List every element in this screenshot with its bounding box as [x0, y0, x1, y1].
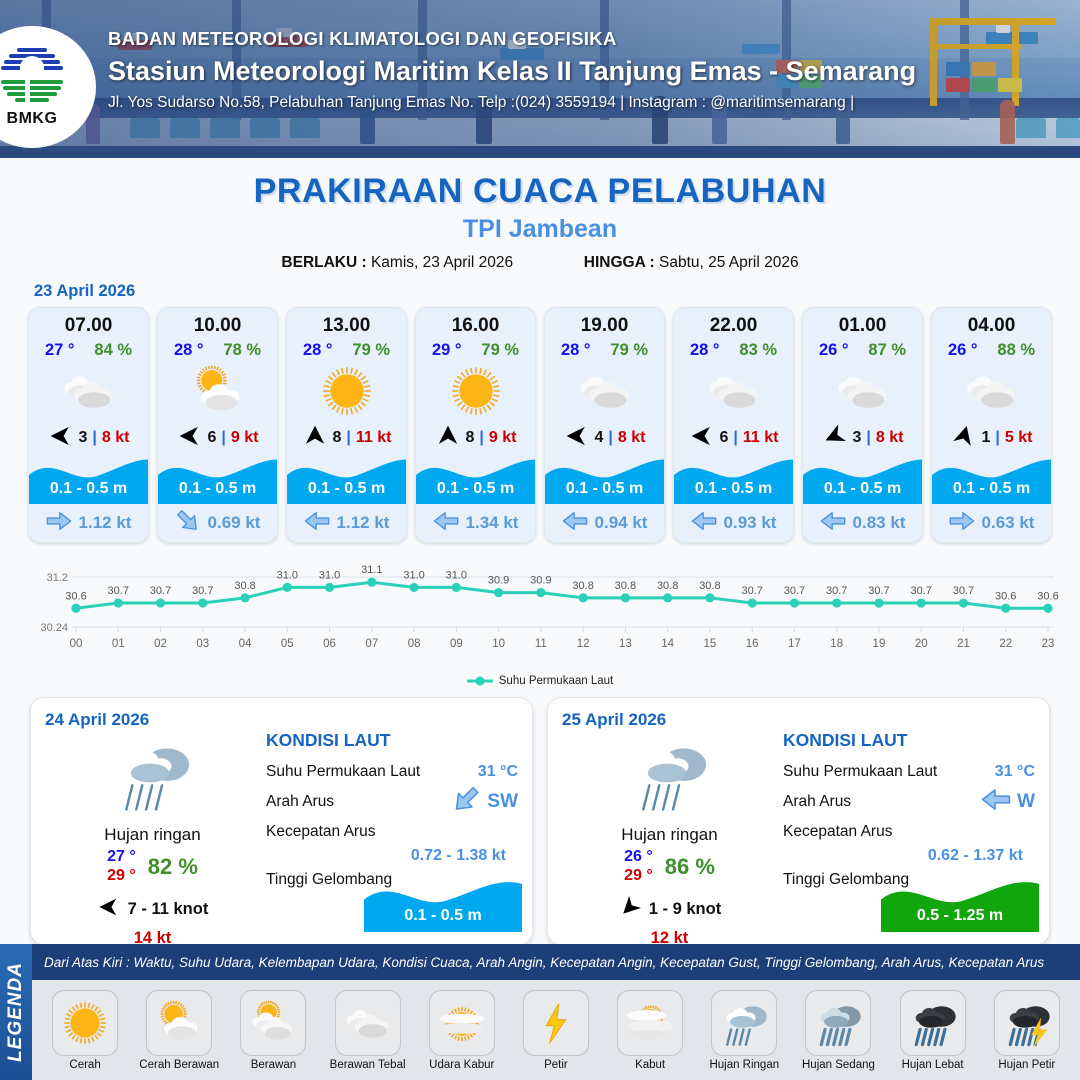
current-direction-arrow-icon [46, 511, 72, 536]
svg-text:30.7: 30.7 [741, 585, 762, 597]
sst-value: 31 °C [478, 763, 518, 781]
legend-item-label: Hujan Petir [983, 1059, 1071, 1071]
svg-text:20: 20 [915, 638, 928, 650]
hourly-wind-speed: 1 [982, 429, 991, 447]
sst-label: Suhu Permukaan Laut [266, 763, 420, 781]
sst-chart-legend: Suhu Permukaan Laut [0, 675, 1080, 687]
svg-text:31.1: 31.1 [361, 564, 382, 576]
daily-forecast-card: 24 April 2026 Hujan ringan 27 ° 29 ° 82 … [30, 697, 533, 945]
svg-text:30.6: 30.6 [1037, 590, 1058, 602]
hourly-wave-height: 0.1 - 0.5 m [416, 480, 535, 498]
hourly-temperature: 26 ° [948, 341, 978, 360]
valid-from-label: BERLAKU : [281, 254, 366, 271]
wind-direction-arrow-icon [302, 423, 328, 454]
svg-text:06: 06 [323, 638, 336, 650]
hourly-humidity: 83 % [739, 341, 777, 360]
svg-text:22: 22 [999, 638, 1012, 650]
legend-item: Berawan Tebal [324, 990, 412, 1071]
svg-text:31.0: 31.0 [277, 569, 298, 581]
svg-text:02: 02 [154, 638, 167, 650]
legend-item: Cerah Berawan [135, 990, 223, 1071]
cloudy-icon [545, 360, 664, 422]
svg-text:14: 14 [661, 638, 674, 650]
sunny-icon [287, 360, 406, 422]
daily-date: 24 April 2026 [45, 710, 518, 730]
hourly-current-speed: 0.94 kt [595, 513, 648, 533]
hourly-humidity: 88 % [997, 341, 1035, 360]
hourly-time: 19.00 [545, 308, 664, 337]
legend-item-label: Kabut [606, 1059, 694, 1071]
separator: | [608, 429, 612, 447]
hourly-wave-height: 0.1 - 0.5 m [674, 480, 793, 498]
light-rain-icon [711, 990, 777, 1056]
haze-icon [429, 990, 495, 1056]
svg-text:30.7: 30.7 [868, 585, 889, 597]
station-contact: Jl. Yos Sudarso No.58, Pelabuhan Tanjung… [108, 94, 916, 112]
hourly-gust: 8 kt [102, 429, 130, 447]
svg-text:30.8: 30.8 [234, 580, 255, 592]
svg-text:30.7: 30.7 [192, 585, 213, 597]
thunderstorm-icon [994, 990, 1060, 1056]
forecast-day-date: 23 April 2026 [34, 282, 1080, 301]
current-speed-label: Kecepatan Arus [783, 823, 892, 841]
hourly-gust: 11 kt [356, 429, 392, 447]
hourly-wave-height: 0.1 - 0.5 m [545, 480, 664, 498]
hourly-wave-height: 0.1 - 0.5 m [158, 480, 277, 498]
hourly-temperature: 28 ° [690, 341, 720, 360]
hourly-time: 04.00 [932, 308, 1051, 337]
wind-direction-arrow-icon [177, 423, 203, 454]
page-subtitle: TPI Jambean [0, 215, 1080, 244]
svg-text:31.2: 31.2 [47, 572, 68, 584]
svg-text:04: 04 [239, 638, 252, 650]
svg-text:30.6: 30.6 [65, 590, 86, 602]
hourly-current-speed: 0.83 kt [853, 513, 906, 533]
cloudy-icon [674, 360, 793, 422]
hourly-card: 22.00 28 ° 83 % 6 | 11 kt 0.1 - 0.5 m 0.… [673, 307, 794, 543]
valid-from-value: Kamis, 23 April 2026 [371, 254, 513, 271]
svg-text:30.7: 30.7 [826, 585, 847, 597]
svg-text:12: 12 [577, 638, 590, 650]
daily-date: 25 April 2026 [562, 710, 1035, 730]
current-direction-arrow-icon [949, 511, 975, 536]
lightning-icon [523, 990, 589, 1056]
legend-side-title-text: LEGENDA [5, 962, 27, 1062]
chart-legend-marker [467, 676, 493, 686]
svg-text:30.8: 30.8 [699, 580, 720, 592]
legend-item-label: Udara Kabur [418, 1059, 506, 1071]
svg-text:19: 19 [873, 638, 886, 650]
hourly-current-speed: 1.12 kt [337, 513, 390, 533]
svg-text:18: 18 [830, 638, 843, 650]
legend-item-label: Berawan [229, 1059, 317, 1071]
svg-text:21: 21 [957, 638, 970, 650]
hourly-time: 07.00 [29, 308, 148, 337]
current-speed-value: 0.72 - 1.38 kt [266, 847, 518, 865]
current-direction-label: Arah Arus [783, 793, 851, 811]
station-name: Stasiun Meteorologi Maritim Kelas II Tan… [108, 56, 916, 87]
hourly-humidity: 79 % [352, 341, 390, 360]
hourly-humidity: 78 % [223, 341, 261, 360]
wind-direction-arrow-icon [435, 423, 461, 454]
hourly-gust: 9 kt [489, 429, 517, 447]
separator: | [346, 429, 350, 447]
svg-text:30.9: 30.9 [530, 575, 551, 587]
current-direction-arrow-icon [175, 511, 201, 536]
legend-note-bar: Dari Atas Kiri : Waktu, Suhu Udara, Kele… [32, 944, 1080, 980]
hourly-time: 13.00 [287, 308, 406, 337]
daily-wave-height: 0.1 - 0.5 m [364, 907, 522, 925]
hourly-humidity: 87 % [868, 341, 906, 360]
wind-direction-arrow-icon [689, 423, 715, 454]
partly-sunny-icon [158, 360, 277, 422]
daily-condition: Hujan ringan [572, 825, 767, 845]
hourly-wind-speed: 3 [853, 429, 862, 447]
bmkg-logo-mark [1, 46, 63, 108]
legend-item: Kabut [606, 990, 694, 1071]
cloudy-icon [29, 360, 148, 422]
moderate-rain-icon [805, 990, 871, 1056]
svg-text:23: 23 [1042, 638, 1055, 650]
hourly-humidity: 79 % [610, 341, 648, 360]
sst-chart-svg: 31.230.2430.60030.70130.70230.70330.8043… [18, 555, 1062, 673]
light-rain-icon [572, 732, 767, 823]
wind-direction-arrow-icon [822, 423, 848, 454]
daily-temp-max: 29 ° [624, 867, 653, 886]
hourly-wave-height: 0.1 - 0.5 m [932, 480, 1051, 498]
agency-name: BADAN METEOROLOGI KLIMATOLOGI DAN GEOFIS… [108, 28, 916, 50]
separator: | [866, 429, 870, 447]
hourly-wave: 0.1 - 0.5 m [674, 454, 793, 504]
sst-value: 31 °C [995, 763, 1035, 781]
page-header: BMKG BADAN METEOROLOGI KLIMATOLOGI DAN G… [0, 0, 1080, 158]
hourly-wave: 0.1 - 0.5 m [158, 454, 277, 504]
light-rain-icon [55, 732, 250, 823]
hourly-humidity: 79 % [481, 341, 519, 360]
hourly-gust: 11 kt [743, 429, 779, 447]
daily-wind-range: 1 - 9 knot [649, 900, 721, 919]
daily-humidity: 86 % [665, 854, 715, 880]
mostly-cloudy-icon [240, 990, 306, 1056]
svg-text:30.7: 30.7 [784, 585, 805, 597]
separator: | [221, 429, 225, 447]
valid-until-value: Sabtu, 25 April 2026 [659, 254, 799, 271]
daily-forecast-card: 25 April 2026 Hujan ringan 26 ° 29 ° 86 … [547, 697, 1050, 945]
current-direction-value: SW [487, 791, 518, 813]
svg-text:31.0: 31.0 [446, 569, 467, 581]
svg-text:30.8: 30.8 [615, 580, 636, 592]
current-direction-value: W [1017, 791, 1035, 813]
svg-text:13: 13 [619, 638, 632, 650]
daily-temp-min: 26 ° [624, 848, 653, 867]
hourly-time: 22.00 [674, 308, 793, 337]
svg-text:30.8: 30.8 [657, 580, 678, 592]
daily-temp-min: 27 ° [107, 848, 136, 867]
legend-item-label: Hujan Ringan [700, 1059, 788, 1071]
validity-line: BERLAKU : Kamis, 23 April 2026 HINGGA : … [0, 254, 1080, 272]
current-speed-value: 0.62 - 1.37 kt [783, 847, 1035, 865]
hourly-temperature: 29 ° [432, 341, 462, 360]
hourly-time: 16.00 [416, 308, 535, 337]
title-section: PRAKIRAAN CUACA PELABUHAN TPI Jambean BE… [0, 158, 1080, 272]
bmkg-logo-text: BMKG [7, 110, 58, 128]
daily-humidity: 82 % [148, 854, 198, 880]
current-direction-arrow-icon [820, 511, 846, 536]
svg-text:31.0: 31.0 [403, 569, 424, 581]
svg-text:11: 11 [535, 638, 547, 650]
hourly-current-speed: 0.63 kt [982, 513, 1035, 533]
wind-direction-arrow-icon [564, 423, 590, 454]
hourly-forecast-row: 07.00 27 ° 84 % 3 | 8 kt 0.1 - 0.5 m 1.1… [0, 301, 1080, 543]
legend-items: Cerah Cerah Berawan Berawan Berawan Teba… [32, 980, 1080, 1080]
hourly-current-speed: 1.34 kt [466, 513, 519, 533]
hourly-gust: 9 kt [231, 429, 259, 447]
hourly-humidity: 84 % [94, 341, 132, 360]
hourly-temperature: 27 ° [45, 341, 75, 360]
svg-text:05: 05 [281, 638, 294, 650]
hourly-card: 10.00 28 ° 78 % 6 | 9 kt 0.1 - 0.5 m 0.6… [157, 307, 278, 543]
hourly-gust: 8 kt [876, 429, 904, 447]
separator: | [995, 429, 999, 447]
hourly-gust: 5 kt [1005, 429, 1033, 447]
svg-text:30.9: 30.9 [488, 575, 509, 587]
chart-legend-label: Suhu Permukaan Laut [499, 675, 613, 687]
svg-text:15: 15 [704, 638, 717, 650]
daily-forecast-row: 24 April 2026 Hujan ringan 27 ° 29 ° 82 … [0, 687, 1080, 945]
svg-text:08: 08 [408, 638, 421, 650]
hourly-wind-speed: 8 [333, 429, 342, 447]
legend-item: Cerah [41, 990, 129, 1071]
legend-item-label: Hujan Lebat [889, 1059, 977, 1071]
svg-text:00: 00 [70, 638, 83, 650]
current-direction-arrow-icon [304, 511, 330, 536]
legend-item: Berawan [229, 990, 317, 1071]
legend-item: Hujan Petir [983, 990, 1071, 1071]
sunny-icon [52, 990, 118, 1056]
hourly-wave: 0.1 - 0.5 m [545, 454, 664, 504]
svg-text:16: 16 [746, 638, 759, 650]
hourly-card: 04.00 26 ° 88 % 1 | 5 kt 0.1 - 0.5 m 0.6… [931, 307, 1052, 543]
hourly-current-speed: 0.69 kt [208, 513, 261, 533]
svg-text:30.7: 30.7 [108, 585, 129, 597]
wind-direction-arrow-icon [97, 895, 121, 924]
svg-text:30.7: 30.7 [150, 585, 171, 597]
hourly-wind-speed: 8 [466, 429, 475, 447]
page-title: PRAKIRAAN CUACA PELABUHAN [0, 172, 1080, 211]
hourly-card: 13.00 28 ° 79 % 8 | 11 kt 0.1 - 0.5 m 1.… [286, 307, 407, 543]
legend-item: Petir [512, 990, 600, 1071]
hourly-wave: 0.1 - 0.5 m [932, 454, 1051, 504]
daily-wind-range: 7 - 11 knot [128, 900, 209, 919]
hourly-current-speed: 1.12 kt [79, 513, 132, 533]
sea-conditions-title: KONDISI LAUT [266, 730, 518, 751]
hourly-time: 10.00 [158, 308, 277, 337]
wind-direction-arrow-icon [48, 423, 74, 454]
hourly-current-speed: 0.93 kt [724, 513, 777, 533]
sst-chart: 31.230.2430.60030.70130.70230.70330.8043… [18, 555, 1062, 673]
legend-item-label: Hujan Sedang [794, 1059, 882, 1071]
svg-text:01: 01 [112, 638, 125, 650]
sunny-icon [416, 360, 535, 422]
wind-direction-arrow-icon [618, 895, 642, 924]
legend-item-label: Cerah [41, 1059, 129, 1071]
legend-note: Dari Atas Kiri : Waktu, Suhu Udara, Kele… [44, 955, 1044, 970]
hourly-card: 16.00 29 ° 79 % 8 | 9 kt 0.1 - 0.5 m 1.3… [415, 307, 536, 543]
svg-text:07: 07 [365, 638, 378, 650]
legend-item: Udara Kabur [418, 990, 506, 1071]
hourly-wave: 0.1 - 0.5 m [287, 454, 406, 504]
svg-text:30.6: 30.6 [995, 590, 1016, 602]
svg-text:30.24: 30.24 [40, 622, 68, 634]
svg-text:31.0: 31.0 [319, 569, 340, 581]
svg-text:10: 10 [492, 638, 505, 650]
hourly-card: 07.00 27 ° 84 % 3 | 8 kt 0.1 - 0.5 m 1.1… [28, 307, 149, 543]
hourly-time: 01.00 [803, 308, 922, 337]
partly-sunny-icon [146, 990, 212, 1056]
valid-until-label: HINGGA : [584, 254, 655, 271]
separator: | [479, 429, 483, 447]
hourly-wave-height: 0.1 - 0.5 m [287, 480, 406, 498]
current-direction-arrow-icon [433, 511, 459, 536]
svg-text:03: 03 [196, 638, 209, 650]
hourly-wave-height: 0.1 - 0.5 m [803, 480, 922, 498]
daily-wave-graphic: 0.5 - 1.25 m [881, 876, 1039, 932]
legend-side-title: LEGENDA [0, 944, 32, 1080]
hourly-temperature: 28 ° [303, 341, 333, 360]
current-direction-label: Arah Arus [266, 793, 334, 811]
legend-item: Hujan Sedang [794, 990, 882, 1071]
hourly-wind-speed: 6 [720, 429, 729, 447]
legend-item-label: Petir [512, 1059, 600, 1071]
hourly-gust: 8 kt [618, 429, 646, 447]
current-direction-arrow-icon [451, 788, 481, 816]
current-direction-arrow-icon [981, 788, 1011, 816]
legend-item: Hujan Lebat [889, 990, 977, 1071]
sst-label: Suhu Permukaan Laut [783, 763, 937, 781]
svg-text:30.7: 30.7 [953, 585, 974, 597]
legend-item: Hujan Ringan [700, 990, 788, 1071]
hourly-card: 01.00 26 ° 87 % 3 | 8 kt 0.1 - 0.5 m 0.8… [802, 307, 923, 543]
hourly-temperature: 28 ° [561, 341, 591, 360]
daily-condition: Hujan ringan [55, 825, 250, 845]
separator: | [92, 429, 96, 447]
legend-item-label: Cerah Berawan [135, 1059, 223, 1071]
svg-text:30.8: 30.8 [572, 580, 593, 592]
hourly-wave: 0.1 - 0.5 m [803, 454, 922, 504]
daily-temp-max: 29 ° [107, 867, 136, 886]
hourly-wind-speed: 3 [79, 429, 88, 447]
current-speed-label: Kecepatan Arus [266, 823, 375, 841]
svg-text:17: 17 [788, 638, 801, 650]
hourly-temperature: 28 ° [174, 341, 204, 360]
hourly-wave-height: 0.1 - 0.5 m [29, 480, 148, 498]
legend-section: LEGENDA Dari Atas Kiri : Waktu, Suhu Uda… [0, 944, 1080, 1080]
daily-wave-graphic: 0.1 - 0.5 m [364, 876, 522, 932]
heavy-rain-icon [900, 990, 966, 1056]
daily-wave-height: 0.5 - 1.25 m [881, 907, 1039, 925]
hourly-temperature: 26 ° [819, 341, 849, 360]
wind-direction-arrow-icon [951, 423, 977, 454]
cloudy-icon [803, 360, 922, 422]
fog-icon [617, 990, 683, 1056]
svg-text:09: 09 [450, 638, 463, 650]
hourly-card: 19.00 28 ° 79 % 4 | 8 kt 0.1 - 0.5 m 0.9… [544, 307, 665, 543]
current-direction-arrow-icon [562, 511, 588, 536]
separator: | [733, 429, 737, 447]
hourly-wave: 0.1 - 0.5 m [416, 454, 535, 504]
svg-text:30.7: 30.7 [911, 585, 932, 597]
cloudy-icon [932, 360, 1051, 422]
legend-item-label: Berawan Tebal [324, 1059, 412, 1071]
hourly-wave: 0.1 - 0.5 m [29, 454, 148, 504]
hourly-wind-speed: 6 [208, 429, 217, 447]
sea-conditions-title: KONDISI LAUT [783, 730, 1035, 751]
current-direction-arrow-icon [691, 511, 717, 536]
hourly-wind-speed: 4 [595, 429, 604, 447]
cloudy-icon [335, 990, 401, 1056]
